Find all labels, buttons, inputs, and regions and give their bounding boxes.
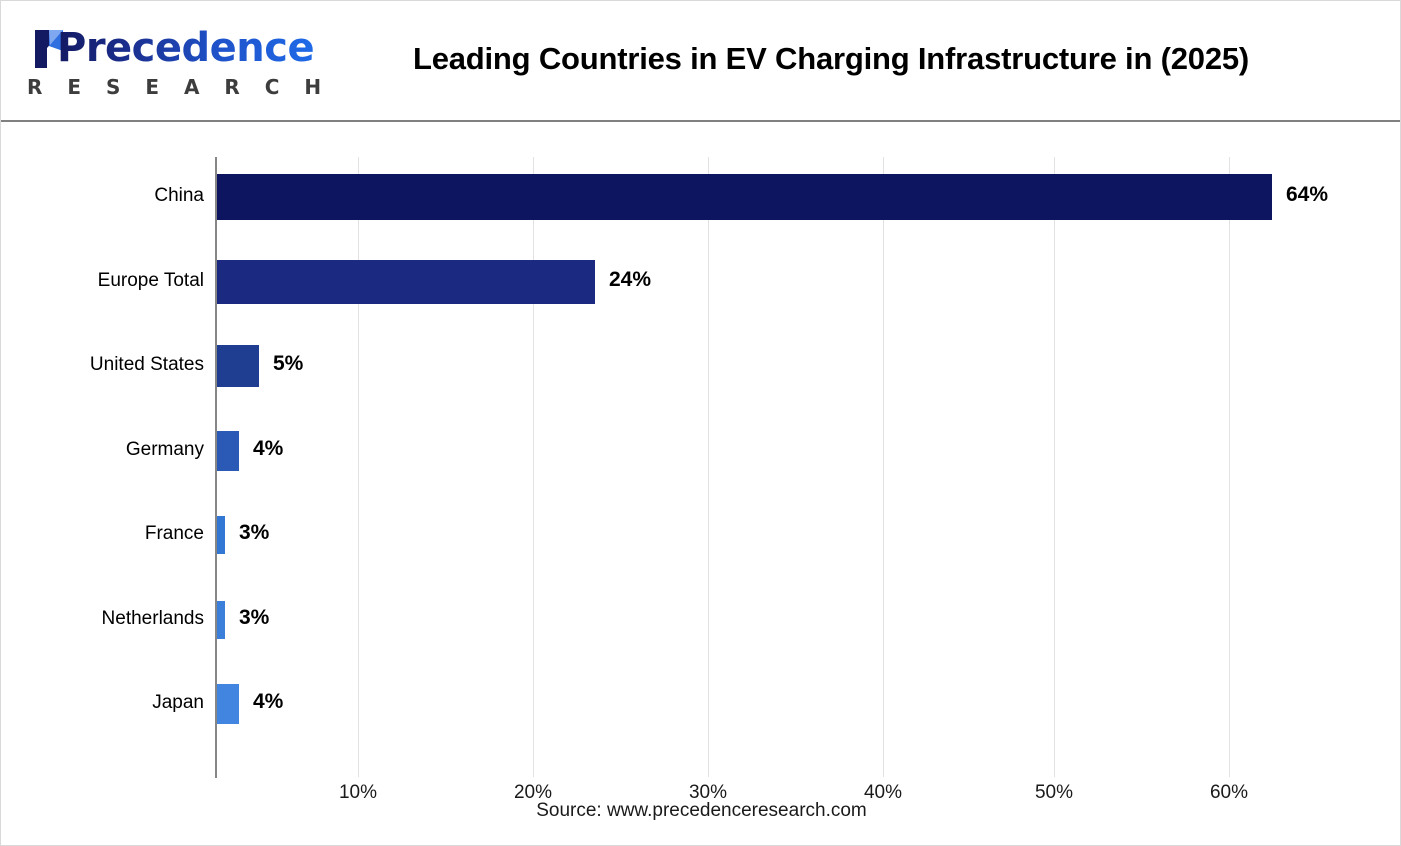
bar-value-label-united-states: 5% [273, 352, 303, 376]
bar-japan[interactable] [217, 684, 239, 724]
category-label-germany: Germany [1, 439, 204, 461]
bar-netherlands[interactable] [217, 601, 225, 639]
category-label-netherlands: Netherlands [1, 608, 204, 630]
source-caption: Source: www.precedenceresearch.com [1, 800, 1401, 822]
logo-wordmark: Precedence [57, 25, 314, 71]
chart-row: Netherlands3% [1, 589, 1401, 673]
bar-value-label-europe-total: 24% [609, 268, 651, 292]
bar-united-states[interactable] [217, 345, 259, 387]
bar-germany[interactable] [217, 431, 239, 471]
infographic-canvas: Precedence R E S E A R C H Leading Count… [0, 0, 1401, 846]
category-label-united-states: United States [1, 354, 204, 376]
chart-row: Japan4% [1, 673, 1401, 757]
category-label-china: China [1, 185, 204, 207]
chart-row: United States5% [1, 335, 1401, 419]
bar-value-label-china: 64% [1286, 183, 1328, 207]
chart-row: China64% [1, 166, 1401, 250]
bar-value-label-france: 3% [239, 521, 269, 545]
page-title: Leading Countries in EV Charging Infrast… [281, 41, 1381, 77]
bar-france[interactable] [217, 516, 225, 554]
bar-value-label-netherlands: 3% [239, 606, 269, 630]
category-label-japan: Japan [1, 692, 204, 714]
bar-value-label-japan: 4% [253, 690, 283, 714]
header-bar: Precedence R E S E A R C H Leading Count… [1, 1, 1401, 122]
bar-value-label-germany: 4% [253, 437, 283, 461]
category-label-france: France [1, 523, 204, 545]
chart-plot-area: China64%Europe Total24%United States5%Ge… [1, 124, 1401, 846]
brand-logo[interactable]: Precedence R E S E A R C H [19, 23, 269, 103]
chart-row: Europe Total24% [1, 251, 1401, 335]
logo-subtext: R E S E A R C H [27, 75, 330, 99]
bar-europe-total[interactable] [217, 260, 595, 304]
chart-row: France3% [1, 504, 1401, 588]
bar-china[interactable] [217, 174, 1272, 220]
chart-row: Germany4% [1, 420, 1401, 504]
category-label-europe-total: Europe Total [1, 270, 204, 292]
